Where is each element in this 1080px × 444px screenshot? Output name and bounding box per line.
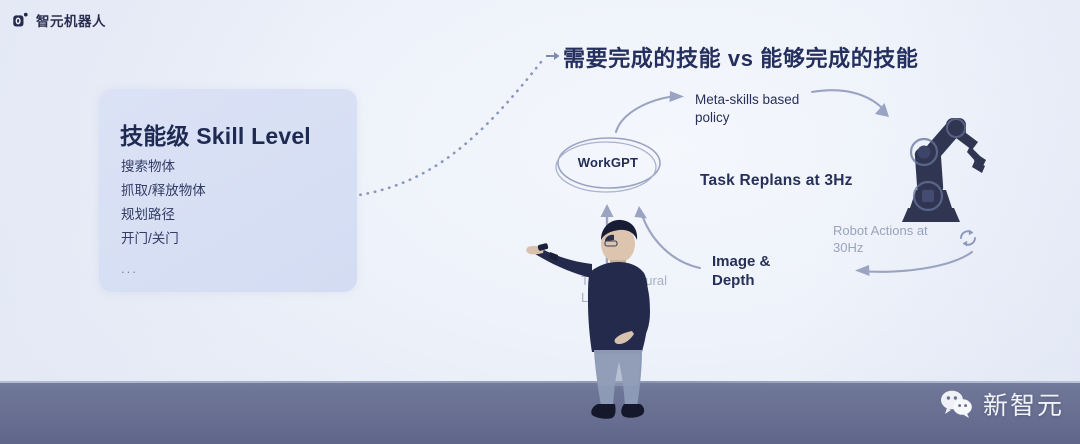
list-item-ellipsis: ... bbox=[121, 251, 206, 281]
watermark: 新智元 bbox=[940, 386, 1064, 422]
skill-card-title: 技能级 Skill Level bbox=[120, 117, 311, 151]
brand-name: 智元机器人 bbox=[36, 10, 106, 30]
watermark-text: 新智元 bbox=[983, 386, 1064, 422]
brand-logo: 智元机器人 bbox=[12, 10, 106, 30]
screenshot-root: 智元机器人 技能级 Skill Level 搜索物体 抓取/释放物体 规划路径 … bbox=[0, 0, 1080, 444]
sync-loop-icon bbox=[956, 226, 980, 250]
label-task-replans: Task Replans at 3Hz bbox=[700, 172, 853, 190]
presenter-figure bbox=[522, 216, 698, 428]
workgpt-label: WorkGPT bbox=[552, 155, 664, 170]
wechat-icon bbox=[940, 389, 974, 419]
list-item: 抓取/释放物体 bbox=[121, 179, 206, 203]
label-meta-skills: Meta-skills based policy bbox=[695, 91, 799, 127]
list-item: 规划路径 bbox=[121, 203, 206, 227]
label-robot-actions: Robot Actions at 30Hz bbox=[833, 222, 928, 256]
list-item: 搜索物体 bbox=[121, 155, 206, 179]
page-title: 需要完成的技能 vs 能够完成的技能 bbox=[563, 41, 919, 73]
label-image-depth: Image & Depth bbox=[712, 252, 770, 290]
skill-card-list: 搜索物体 抓取/释放物体 规划路径 开门/关门 ... bbox=[121, 155, 206, 281]
arrow-right-icon bbox=[546, 50, 560, 62]
node-workgpt: WorkGPT bbox=[552, 134, 664, 196]
robot-arm-icon bbox=[882, 104, 990, 226]
skill-level-card: 技能级 Skill Level 搜索物体 抓取/释放物体 规划路径 开门/关门 … bbox=[99, 89, 357, 292]
list-item: 开门/关门 bbox=[121, 227, 206, 251]
robot-mark-icon bbox=[12, 12, 29, 29]
